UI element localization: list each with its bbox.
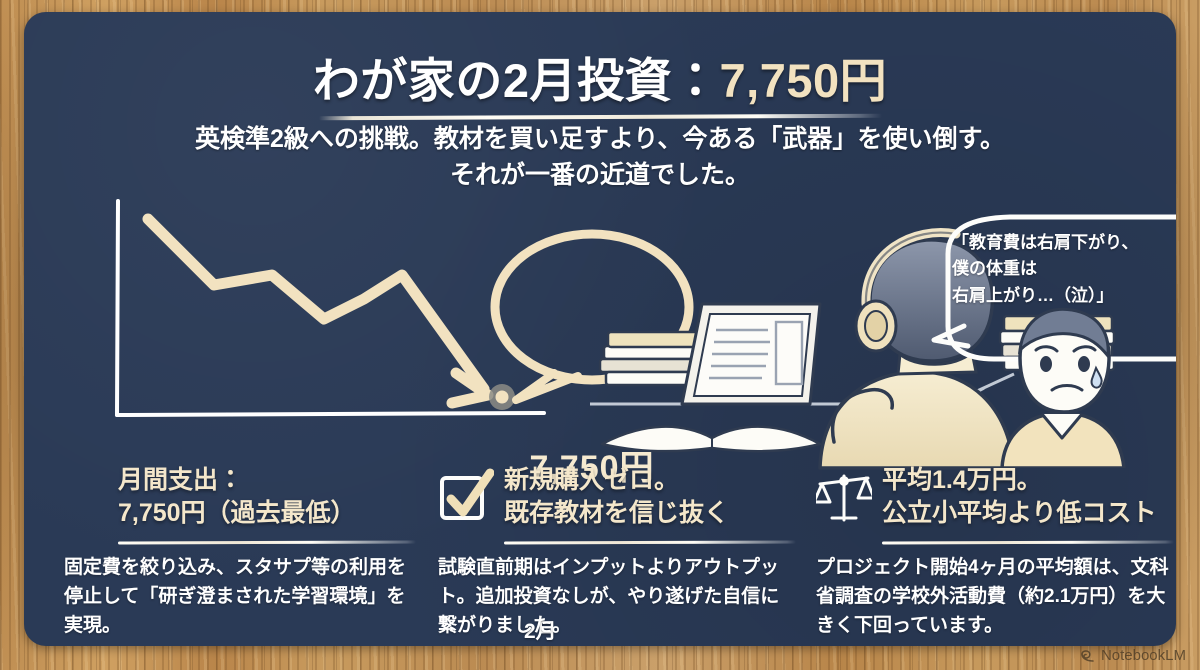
column-3-head-line-2: 公立小平均より低コスト [882, 497, 1157, 530]
column-1-head-line-2: 7,750円（過去最低） [118, 497, 356, 530]
column-2-heading: 新規購入ゼロ。 既存教材を信じ抜く [438, 464, 802, 530]
column-2-head-line-1: 新規購入ゼロ。 [504, 464, 729, 497]
chart-end-marker-dot [496, 391, 509, 404]
column-2-head-line-2: 既存教材を信じ抜く [504, 497, 729, 530]
infographic-stage: わが家の2月投資：7,750円 英検準2級への挑戦。教材を買い足すより、今ある「… [0, 0, 1200, 670]
column-1-underline [118, 540, 416, 544]
chart-value-bubble-tail [516, 373, 578, 400]
column-3-underline [882, 540, 1174, 544]
chart-y-axis [117, 201, 118, 415]
open-book [602, 427, 820, 452]
spending-line-chart: 7,750円 2月 [84, 197, 604, 462]
dad-eye-left [1040, 356, 1052, 372]
chart-series-line [148, 219, 484, 389]
subtitle-line-1: 英検準2級への挑戦。教材を買い足すより、今ある「武器」を使い倒す。 [24, 122, 1176, 158]
notebooklm-spiral-icon [1078, 648, 1095, 663]
column-3-head-line-1: 平均1.4万円。 [882, 464, 1157, 497]
page-title-amount: 7,750円 [720, 54, 888, 107]
column-3-heading: 平均1.4万円。 公立小平均より低コスト [816, 464, 1176, 530]
notebooklm-watermark: NotebookLM [1078, 647, 1186, 664]
chart-arrow-head [452, 373, 488, 403]
dad-speech-text: 「教育費は右肩下がり、 僕の体重は 右肩上がり…（泣）」 [952, 230, 1176, 309]
summary-column-zero-purchase: 新規購入ゼロ。 既存教材を信じ抜く 試験直前期はインプットよりアウトプット。追加… [438, 464, 802, 646]
column-3-body: プロジェクト開始4ヶ月の平均額は、文科省調査の学校外活動費（約2.1万円）を大き… [816, 554, 1176, 641]
headline-block: わが家の2月投資：7,750円 [24, 42, 1176, 117]
chart-x-axis [117, 413, 544, 415]
dad-avatar [1002, 309, 1124, 468]
notebooklm-watermark-label: NotebookLM [1101, 647, 1186, 664]
summary-columns: 月間支出： 7,750円（過去最低） 固定費を絞り込み、スタサプ等の利用を停止し… [60, 464, 1176, 646]
tablet-device [682, 304, 820, 404]
dad-eye-right [1078, 356, 1090, 372]
dad-speech-line-1: 「教育費は右肩下がり、 [952, 230, 1176, 256]
balance-scales-icon [816, 468, 872, 526]
dad-speech-line-2: 僕の体重は [952, 256, 1176, 282]
column-1-head-line-1: 月間支出： [118, 464, 356, 497]
column-1-heading: 月間支出： 7,750円（過去最低） [60, 464, 424, 530]
subtitle-line-2: それが一番の近道でした。 [24, 158, 1176, 194]
summary-column-average-cost: 平均1.4万円。 公立小平均より低コスト プロジェクト開始4ヶ月の平均額は、文科… [816, 464, 1176, 646]
column-2-underline [504, 540, 796, 544]
title-underline [319, 114, 882, 120]
summary-column-monthly-spend: 月間支出： 7,750円（過去最低） 固定費を絞り込み、スタサプ等の利用を停止し… [60, 464, 424, 646]
infographic-card: わが家の2月投資：7,750円 英検準2級への挑戦。教材を買い足すより、今ある「… [24, 12, 1176, 646]
dad-speech-line-3: 右肩上がり…（泣）」 [952, 283, 1176, 309]
subtitle-block: 英検準2級への挑戦。教材を買い足すより、今ある「武器」を使い倒す。 それが一番の… [24, 122, 1176, 193]
page-title: わが家の2月投資：7,750円 [307, 42, 893, 117]
column-1-body: 固定費を絞り込み、スタサプ等の利用を停止して「研ぎ澄まされた学習環境」を実現。 [64, 554, 420, 641]
page-title-main: わが家の2月投資： [313, 54, 720, 107]
column-2-body: 試験直前期はインプットよりアウトプット。追加投資なしが、やり遂げた自信に繋がりま… [438, 554, 798, 641]
checkbox-check-icon [438, 468, 494, 526]
